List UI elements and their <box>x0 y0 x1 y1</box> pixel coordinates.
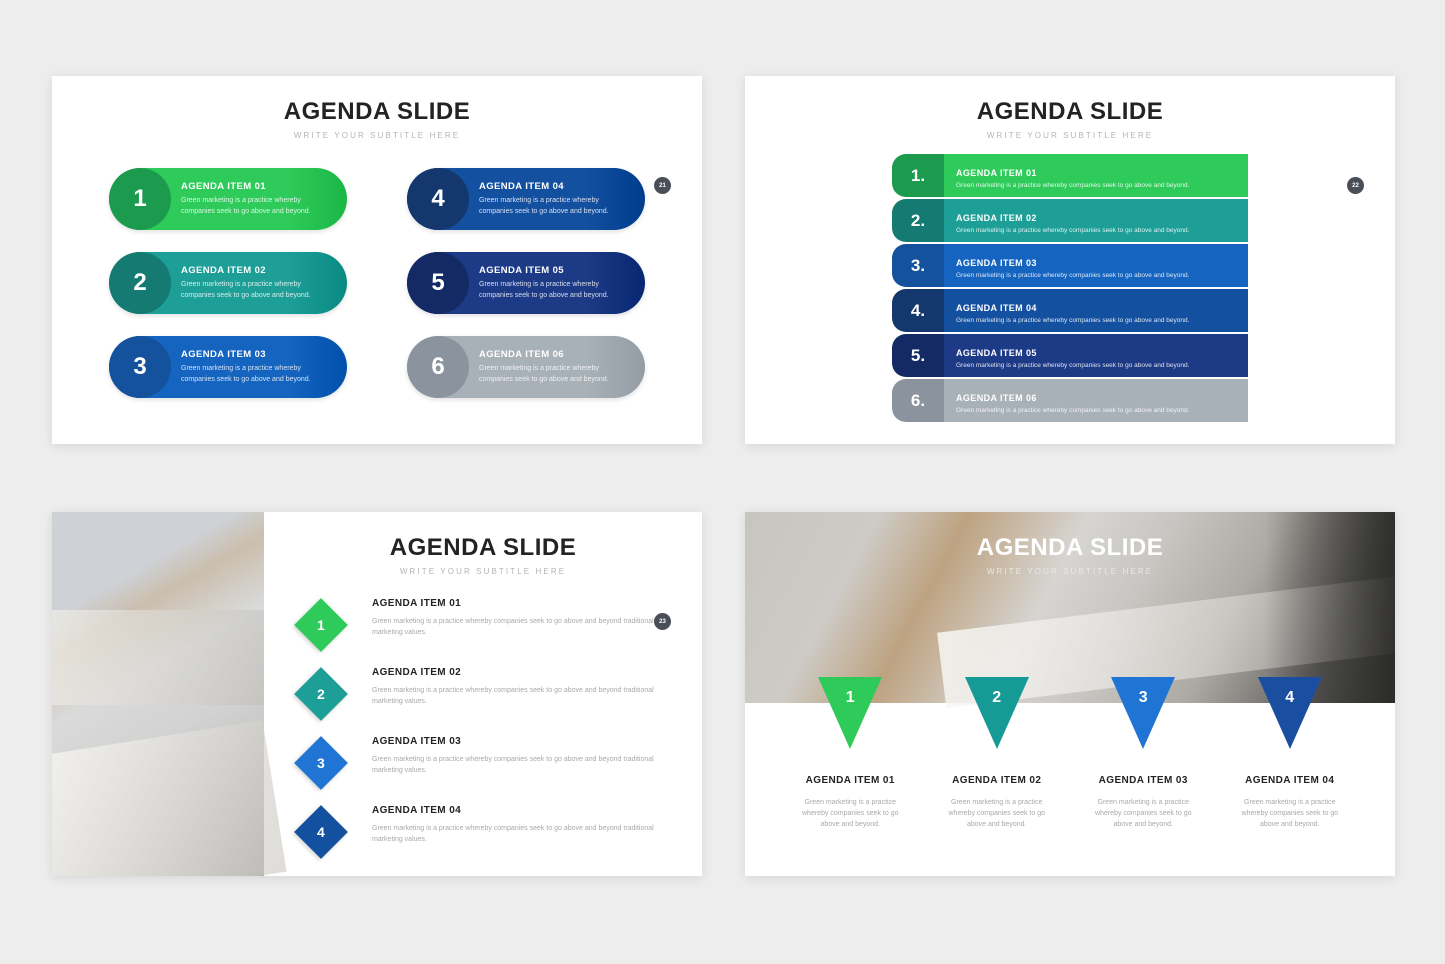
agenda-pill-item[interactable]: 2AGENDA ITEM 02Green marketing is a prac… <box>109 252 347 314</box>
triangle-marker: 3 <box>1111 677 1175 749</box>
agenda-bar-item[interactable]: 5.AGENDA ITEM 05Green marketing is a pra… <box>892 334 1248 377</box>
diamond-number: 3 <box>317 755 325 771</box>
pill-description: Green marketing is a practice whereby co… <box>479 364 633 384</box>
slide-agenda-pills[interactable]: AGENDA SLIDE WRITE YOUR SUBTITLE HERE 21… <box>52 76 702 444</box>
slide2-header: AGENDA SLIDE WRITE YOUR SUBTITLE HERE <box>745 76 1395 140</box>
agenda-pill-item[interactable]: 3AGENDA ITEM 03Green marketing is a prac… <box>109 336 347 398</box>
diamond-marker: 2 <box>294 667 348 721</box>
slide-deck-canvas: AGENDA SLIDE WRITE YOUR SUBTITLE HERE 21… <box>0 0 1445 964</box>
agenda-diamond-item[interactable]: 3AGENDA ITEM 03Green marketing is a prac… <box>52 736 702 805</box>
slide-agenda-diamonds[interactable]: AGENDA SLIDE WRITE YOUR SUBTITLE HERE 23… <box>52 512 702 876</box>
diamond-number: 4 <box>317 824 325 840</box>
triangle-heading: AGENDA ITEM 02 <box>924 775 1071 786</box>
bar-heading: AGENDA ITEM 05 <box>956 348 1236 358</box>
agenda-pill-grid: 1AGENDA ITEM 01Green marketing is a prac… <box>52 168 702 398</box>
triangle-marker: 2 <box>965 677 1029 749</box>
pill-number: 3 <box>109 336 171 398</box>
bar-description: Green marketing is a practice whereby co… <box>956 317 1236 324</box>
bar-number: 5. <box>892 334 944 377</box>
bar-body: AGENDA ITEM 01Green marketing is a pract… <box>944 154 1248 197</box>
diamond-marker: 4 <box>294 805 348 859</box>
bar-number: 4. <box>892 289 944 332</box>
agenda-bar-item[interactable]: 6.AGENDA ITEM 06Green marketing is a pra… <box>892 379 1248 422</box>
page-subtitle: WRITE YOUR SUBTITLE HERE <box>264 567 702 576</box>
page-subtitle: WRITE YOUR SUBTITLE HERE <box>745 131 1395 140</box>
agenda-pill-item[interactable]: 6AGENDA ITEM 06Green marketing is a prac… <box>407 336 645 398</box>
diamond-text: AGENDA ITEM 04Green marketing is a pract… <box>372 805 672 846</box>
triangle-number: 1 <box>818 689 882 707</box>
pill-number: 2 <box>109 252 171 314</box>
pill-description: Green marketing is a practice whereby co… <box>181 196 335 216</box>
bar-number: 2. <box>892 199 944 242</box>
diamond-heading: AGENDA ITEM 03 <box>372 736 672 747</box>
agenda-triangle-row: 1AGENDA ITEM 01Green marketing is a prac… <box>745 677 1395 831</box>
agenda-diamond-item[interactable]: 4AGENDA ITEM 04Green marketing is a prac… <box>52 805 702 874</box>
slide-agenda-bars[interactable]: AGENDA SLIDE WRITE YOUR SUBTITLE HERE 22… <box>745 76 1395 444</box>
bar-description: Green marketing is a practice whereby co… <box>956 227 1236 234</box>
bar-body: AGENDA ITEM 02Green marketing is a pract… <box>944 199 1248 242</box>
triangle-heading: AGENDA ITEM 03 <box>1070 775 1217 786</box>
agenda-pill-item[interactable]: 1AGENDA ITEM 01Green marketing is a prac… <box>109 168 347 230</box>
triangle-number: 3 <box>1111 689 1175 707</box>
bar-description: Green marketing is a practice whereby co… <box>956 272 1236 279</box>
diamond-number: 2 <box>317 686 325 702</box>
bar-body: AGENDA ITEM 03Green marketing is a pract… <box>944 244 1248 287</box>
pill-heading: AGENDA ITEM 03 <box>181 349 335 360</box>
pill-description: Green marketing is a practice whereby co… <box>479 196 633 216</box>
agenda-triangle-item[interactable]: 2AGENDA ITEM 02Green marketing is a prac… <box>924 677 1071 831</box>
triangle-description: Green marketing is a practice whereby co… <box>924 797 1071 831</box>
bar-body: AGENDA ITEM 04Green marketing is a pract… <box>944 289 1248 332</box>
pill-number: 1 <box>109 168 171 230</box>
bar-heading: AGENDA ITEM 04 <box>956 303 1236 313</box>
page-subtitle: WRITE YOUR SUBTITLE HERE <box>52 131 702 140</box>
agenda-diamond-list: 1AGENDA ITEM 01Green marketing is a prac… <box>52 598 702 874</box>
agenda-diamond-item[interactable]: 2AGENDA ITEM 02Green marketing is a prac… <box>52 667 702 736</box>
pill-heading: AGENDA ITEM 01 <box>181 181 335 192</box>
agenda-pill-item[interactable]: 5AGENDA ITEM 05Green marketing is a prac… <box>407 252 645 314</box>
bar-body: AGENDA ITEM 05Green marketing is a pract… <box>944 334 1248 377</box>
agenda-triangle-item[interactable]: 3AGENDA ITEM 03Green marketing is a prac… <box>1070 677 1217 831</box>
pill-heading: AGENDA ITEM 02 <box>181 265 335 276</box>
diamond-marker: 1 <box>294 598 348 652</box>
agenda-pill-item[interactable]: 4AGENDA ITEM 04Green marketing is a prac… <box>407 168 645 230</box>
bar-heading: AGENDA ITEM 06 <box>956 393 1236 403</box>
triangle-marker: 1 <box>818 677 882 749</box>
triangle-marker: 4 <box>1258 677 1322 749</box>
triangle-description: Green marketing is a practice whereby co… <box>777 797 924 831</box>
agenda-triangle-item[interactable]: 1AGENDA ITEM 01Green marketing is a prac… <box>777 677 924 831</box>
agenda-diamond-item[interactable]: 1AGENDA ITEM 01Green marketing is a prac… <box>52 598 702 667</box>
pill-description: Green marketing is a practice whereby co… <box>181 364 335 384</box>
bar-body: AGENDA ITEM 06Green marketing is a pract… <box>944 379 1248 422</box>
bar-description: Green marketing is a practice whereby co… <box>956 407 1236 414</box>
diamond-description: Green marketing is a practice whereby co… <box>372 686 672 708</box>
diamond-text: AGENDA ITEM 02Green marketing is a pract… <box>372 667 672 708</box>
agenda-bar-item[interactable]: 1.AGENDA ITEM 01Green marketing is a pra… <box>892 154 1248 197</box>
agenda-bar-item[interactable]: 2.AGENDA ITEM 02Green marketing is a pra… <box>892 199 1248 242</box>
diamond-text: AGENDA ITEM 03Green marketing is a pract… <box>372 736 672 777</box>
bar-number: 1. <box>892 154 944 197</box>
diamond-description: Green marketing is a practice whereby co… <box>372 755 672 777</box>
triangle-description: Green marketing is a practice whereby co… <box>1217 797 1364 831</box>
triangle-heading: AGENDA ITEM 01 <box>777 775 924 786</box>
pill-description: Green marketing is a practice whereby co… <box>479 280 633 300</box>
agenda-triangle-item[interactable]: 4AGENDA ITEM 04Green marketing is a prac… <box>1217 677 1364 831</box>
bar-number: 3. <box>892 244 944 287</box>
pill-heading: AGENDA ITEM 06 <box>479 349 633 360</box>
pill-number: 6 <box>407 336 469 398</box>
agenda-bar-list: 1.AGENDA ITEM 01Green marketing is a pra… <box>745 154 1395 422</box>
page-title: AGENDA SLIDE <box>52 98 702 126</box>
pill-description: Green marketing is a practice whereby co… <box>181 280 335 300</box>
pill-number: 4 <box>407 168 469 230</box>
bar-number: 6. <box>892 379 944 422</box>
slide3-header: AGENDA SLIDE WRITE YOUR SUBTITLE HERE <box>52 512 702 576</box>
slide1-header: AGENDA SLIDE WRITE YOUR SUBTITLE HERE <box>52 76 702 140</box>
diamond-heading: AGENDA ITEM 02 <box>372 667 672 678</box>
diamond-heading: AGENDA ITEM 01 <box>372 598 672 609</box>
pill-number: 5 <box>407 252 469 314</box>
triangle-number: 2 <box>965 689 1029 707</box>
diamond-description: Green marketing is a practice whereby co… <box>372 617 672 639</box>
diamond-heading: AGENDA ITEM 04 <box>372 805 672 816</box>
bar-description: Green marketing is a practice whereby co… <box>956 182 1236 189</box>
page-number-badge: 22 <box>1347 177 1364 194</box>
bar-heading: AGENDA ITEM 01 <box>956 168 1236 178</box>
diamond-text: AGENDA ITEM 01Green marketing is a pract… <box>372 598 672 639</box>
agenda-bar-item[interactable]: 4.AGENDA ITEM 04Green marketing is a pra… <box>892 289 1248 332</box>
diamond-description: Green marketing is a practice whereby co… <box>372 824 672 846</box>
diamond-marker: 3 <box>294 736 348 790</box>
pill-heading: AGENDA ITEM 05 <box>479 265 633 276</box>
bar-heading: AGENDA ITEM 02 <box>956 213 1236 223</box>
page-number-badge: 23 <box>654 613 671 630</box>
triangle-description: Green marketing is a practice whereby co… <box>1070 797 1217 831</box>
agenda-bar-item[interactable]: 3.AGENDA ITEM 03Green marketing is a pra… <box>892 244 1248 287</box>
triangle-number: 4 <box>1258 689 1322 707</box>
diamond-number: 1 <box>317 617 325 633</box>
bar-heading: AGENDA ITEM 03 <box>956 258 1236 268</box>
page-subtitle: WRITE YOUR SUBTITLE HERE <box>745 567 1395 576</box>
pill-heading: AGENDA ITEM 04 <box>479 181 633 192</box>
page-title: AGENDA SLIDE <box>264 534 702 562</box>
page-number-badge: 21 <box>654 177 671 194</box>
slide4-header: AGENDA SLIDE WRITE YOUR SUBTITLE HERE <box>745 512 1395 576</box>
page-title: AGENDA SLIDE <box>745 98 1395 126</box>
bar-description: Green marketing is a practice whereby co… <box>956 362 1236 369</box>
page-title: AGENDA SLIDE <box>745 534 1395 562</box>
slide-agenda-triangles[interactable]: AGENDA SLIDE WRITE YOUR SUBTITLE HERE 1A… <box>745 512 1395 876</box>
triangle-heading: AGENDA ITEM 04 <box>1217 775 1364 786</box>
